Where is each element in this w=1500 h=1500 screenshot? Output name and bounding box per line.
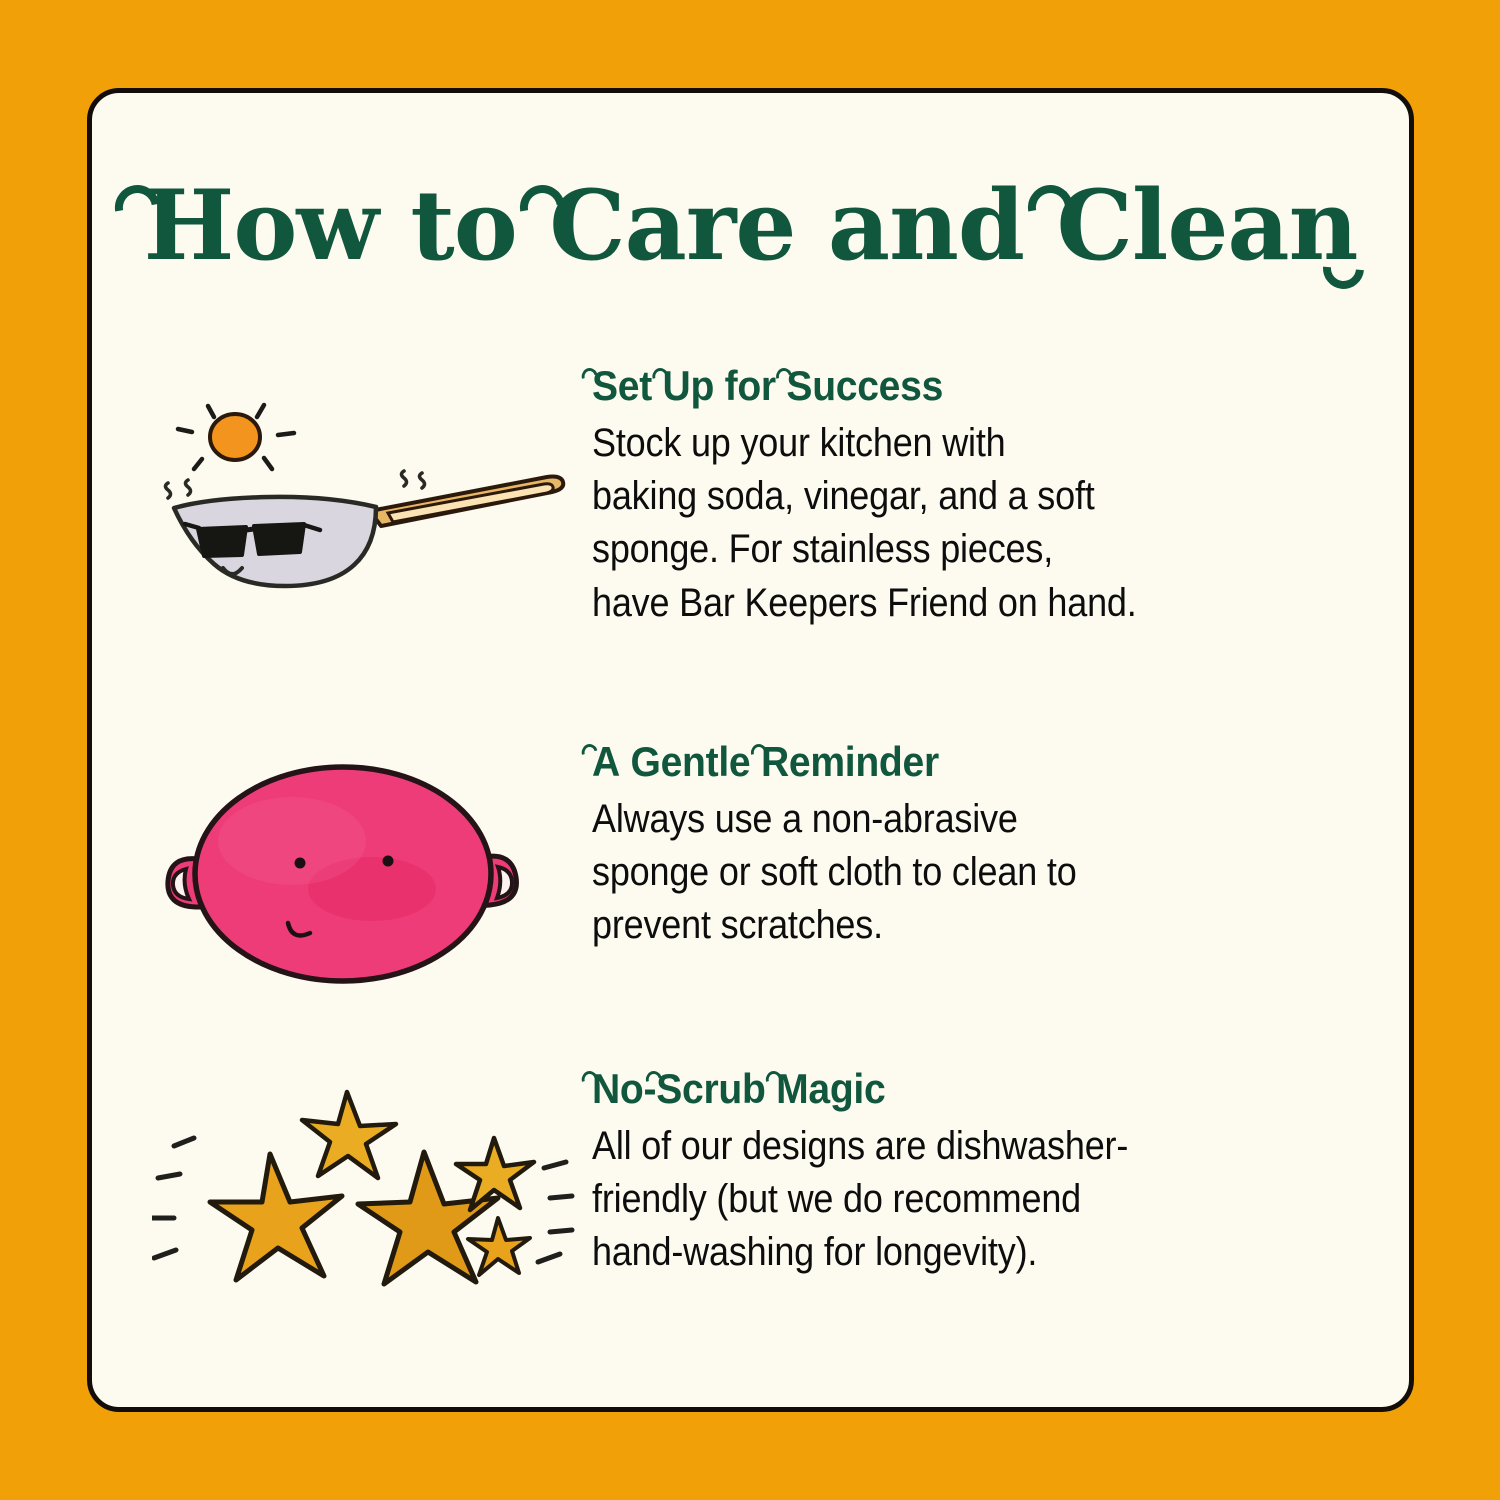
title-part-5: C xyxy=(1056,178,1131,274)
section-a-gentle-reminder: A Gentle Reminder Always use a non-abras… xyxy=(152,741,1367,1001)
heading-text: uccess xyxy=(812,362,943,409)
heading-text: Gentle xyxy=(620,738,761,785)
title-part-7: n xyxy=(1289,178,1358,274)
title-part-4: are and xyxy=(625,169,1057,282)
heading-swash-letter: A xyxy=(592,741,620,783)
heading-text: agic xyxy=(808,1065,885,1112)
body-line: sponge or soft cloth to clean to xyxy=(592,846,1366,899)
section-no-scrub-magic: No-Scrub Magic All of our designs are di… xyxy=(152,1068,1367,1328)
section-3-body: All of our designs are dishwasher- frien… xyxy=(592,1120,1366,1280)
body-line: friendly (but we do recommend xyxy=(592,1173,1366,1226)
body-line: prevent scratches. xyxy=(592,899,1366,952)
section-1-heading: Set Up for Success xyxy=(592,365,1313,407)
body-line: have Bar Keepers Friend on hand. xyxy=(592,577,1366,630)
heading-text: eminder xyxy=(789,738,939,785)
section-1-text: Set Up for Success Stock up your kitchen… xyxy=(592,365,1367,630)
heading-swash-letter: S xyxy=(656,1068,682,1110)
body-line: baking soda, vinegar, and a soft xyxy=(592,470,1366,523)
title-part-3: C xyxy=(549,178,624,274)
info-card: How to Care and Clean xyxy=(87,88,1414,1412)
body-line: sponge. For stainless pieces, xyxy=(592,523,1366,576)
body-line: hand-washing for longevity). xyxy=(592,1226,1366,1279)
section-2-text: A Gentle Reminder Always use a non-abras… xyxy=(592,741,1367,953)
pink-casserole-dish-face-icon xyxy=(152,741,592,1001)
heading-text: p for xyxy=(690,362,786,409)
title-part-6: lea xyxy=(1132,169,1289,282)
body-line: All of our designs are dishwasher- xyxy=(592,1120,1366,1173)
section-1-body: Stock up your kitchen with baking soda, … xyxy=(592,417,1366,630)
frying-pan-with-sunglasses-icon xyxy=(152,365,592,625)
body-line: Always use a non-abrasive xyxy=(592,793,1366,846)
heading-swash-letter: U xyxy=(663,365,691,407)
heading-swash-letter: N xyxy=(592,1068,620,1110)
heading-swash-letter: M xyxy=(776,1068,808,1110)
care-and-clean-infographic: How to Care and Clean xyxy=(0,0,1500,1500)
title-part-1: H xyxy=(144,178,234,274)
section-3-heading: No-Scrub Magic xyxy=(592,1068,1313,1110)
heading-swash-letter: S xyxy=(786,365,812,407)
heading-text: crub xyxy=(682,1065,776,1112)
heading-swash-letter: S xyxy=(592,365,618,407)
sparkling-stars-icon xyxy=(152,1068,592,1328)
section-2-heading: A Gentle Reminder xyxy=(592,741,1313,783)
page-title: How to Care and Clean xyxy=(92,178,1409,274)
title-part-2: ow to xyxy=(233,169,549,282)
body-line: Stock up your kitchen with xyxy=(592,417,1366,470)
section-set-up-for-success: Set Up for Success Stock up your kitchen… xyxy=(152,365,1367,630)
section-2-body: Always use a non-abrasive sponge or soft… xyxy=(592,793,1366,953)
heading-swash-letter: R xyxy=(761,741,789,783)
section-3-text: No-Scrub Magic All of our designs are di… xyxy=(592,1068,1367,1280)
